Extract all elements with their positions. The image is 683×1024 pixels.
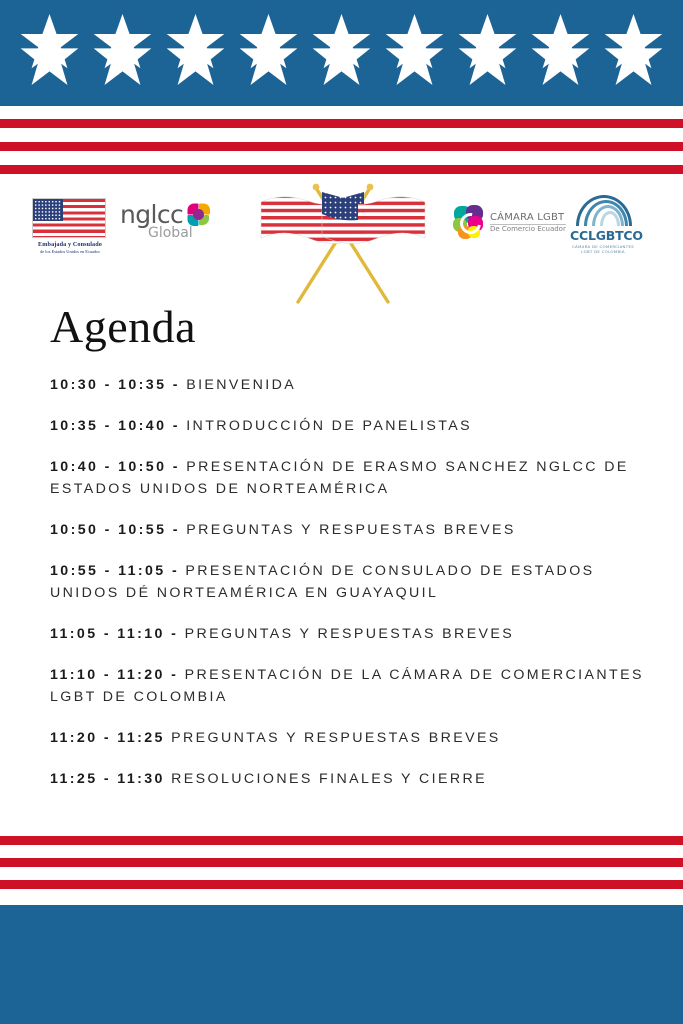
logo-nglcc-global: nglcc Global	[120, 202, 232, 241]
crossed-flags-svg	[258, 180, 428, 308]
bottom-stripe-3	[0, 880, 683, 889]
agenda-item: 10:50 - 10:55 - PREGUNTAS Y RESPUESTAS B…	[50, 519, 650, 541]
camara-text: CÁMARA LGBT De Comercio Ecuador	[490, 212, 566, 233]
agenda-item-text: PREGUNTAS Y RESPUESTAS BREVES	[171, 730, 501, 746]
agenda-item-text: PREGUNTAS Y RESPUESTAS BREVES	[186, 522, 516, 538]
cclgbtco-line-2: CÁMARA DE COMERCIANTES LGBT DE COLOMBIA	[570, 244, 636, 255]
nglcc-wordmark: nglcc	[120, 202, 183, 227]
star-icon	[385, 27, 445, 89]
flag-canton	[33, 199, 63, 221]
star-icon	[458, 27, 518, 89]
agenda-item-time: 10:50 - 10:55 -	[50, 522, 186, 538]
agenda-item-time: 10:35 - 10:40 -	[50, 418, 186, 434]
bottom-stripe-2	[0, 858, 683, 867]
embassy-line-1: Embajada y Consulado	[32, 241, 108, 248]
agenda-item: 11:10 - 11:20 - PRESENTACIÓN DE LA CÁMAR…	[50, 664, 650, 708]
agenda-item-time: 10:40 - 10:50 -	[50, 459, 186, 475]
top-stripe-1	[0, 119, 683, 128]
agenda-item-text: RESOLUCIONES FINALES Y CIERRE	[171, 771, 487, 787]
logo-us-embassy-ecuador: Embajada y Consulado de los Estados Unid…	[32, 198, 108, 254]
agenda-item: 10:40 - 10:50 - PRESENTACIÓN DE ERASMO S…	[50, 456, 650, 500]
star-icon	[93, 27, 153, 89]
nglcc-pinwheel-icon	[188, 204, 209, 225]
star-icon	[239, 27, 299, 89]
star-icon	[166, 27, 226, 89]
agenda-item-time: 11:20 - 11:25	[50, 730, 171, 746]
agenda-item-time: 10:55 - 11:05 -	[50, 563, 185, 579]
agenda-item-time: 11:05 - 11:10 -	[50, 626, 185, 642]
agenda-item: 11:05 - 11:10 - PREGUNTAS Y RESPUESTAS B…	[50, 623, 650, 645]
star-icon	[604, 27, 664, 89]
top-stripe-2	[0, 142, 683, 151]
us-flag-icon	[32, 198, 106, 238]
embassy-line-2: de los Estados Unidos en Ecuador	[32, 249, 108, 254]
crossed-us-flags-icon	[258, 180, 428, 308]
star-icon	[20, 27, 80, 89]
agenda-item: 11:20 - 11:25 PREGUNTAS Y RESPUESTAS BRE…	[50, 727, 650, 749]
agenda-item: 11:25 - 11:30 RESOLUCIONES FINALES Y CIE…	[50, 768, 650, 790]
bottom-star-banner	[0, 905, 683, 1024]
camara-line-2: De Comercio Ecuador	[490, 226, 566, 234]
arc-wave-icon	[576, 196, 630, 226]
camara-line-1: CÁMARA LGBT	[490, 212, 566, 223]
star-icon	[531, 27, 591, 89]
top-stripe-3	[0, 165, 683, 174]
agenda-item-time: 11:25 - 11:30	[50, 771, 171, 787]
nglcc-subtitle: Global	[148, 225, 232, 241]
agenda-list: 10:30 - 10:35 - BIENVENIDA10:35 - 10:40 …	[50, 374, 650, 809]
logo-cclgbtco: CCLGBTCO CÁMARA DE COMERCIANTES LGBT DE …	[570, 196, 636, 255]
bottom-star-row	[0, 27, 683, 89]
agenda-item-text: PREGUNTAS Y RESPUESTAS BREVES	[185, 626, 515, 642]
ecuador-map-icon	[452, 204, 486, 242]
agenda-item-time: 11:10 - 11:20 -	[50, 667, 185, 683]
agenda-item-text: BIENVENIDA	[186, 377, 296, 393]
bottom-stripe-1	[0, 836, 683, 845]
agenda-item: 10:30 - 10:35 - BIENVENIDA	[50, 374, 650, 396]
star-icon	[312, 27, 372, 89]
nglcc-wordmark-row: nglcc	[120, 202, 232, 227]
agenda-item-text: INTRODUCCIÓN DE PANELISTAS	[186, 418, 472, 434]
cclgbtco-line-1: CCLGBTCO	[570, 228, 636, 243]
agenda-item: 10:55 - 11:05 - PRESENTACIÓN DE CONSULAD…	[50, 560, 650, 604]
agenda-item: 10:35 - 10:40 - INTRODUCCIÓN DE PANELIST…	[50, 415, 650, 437]
agenda-item-time: 10:30 - 10:35 -	[50, 377, 186, 393]
agenda-poster: Embajada y Consulado de los Estados Unid…	[0, 0, 683, 1024]
logo-camara-lgbt-ecuador: CÁMARA LGBT De Comercio Ecuador	[452, 204, 560, 242]
logo-strip: Embajada y Consulado de los Estados Unid…	[0, 186, 683, 306]
page-title: Agenda	[50, 304, 196, 350]
